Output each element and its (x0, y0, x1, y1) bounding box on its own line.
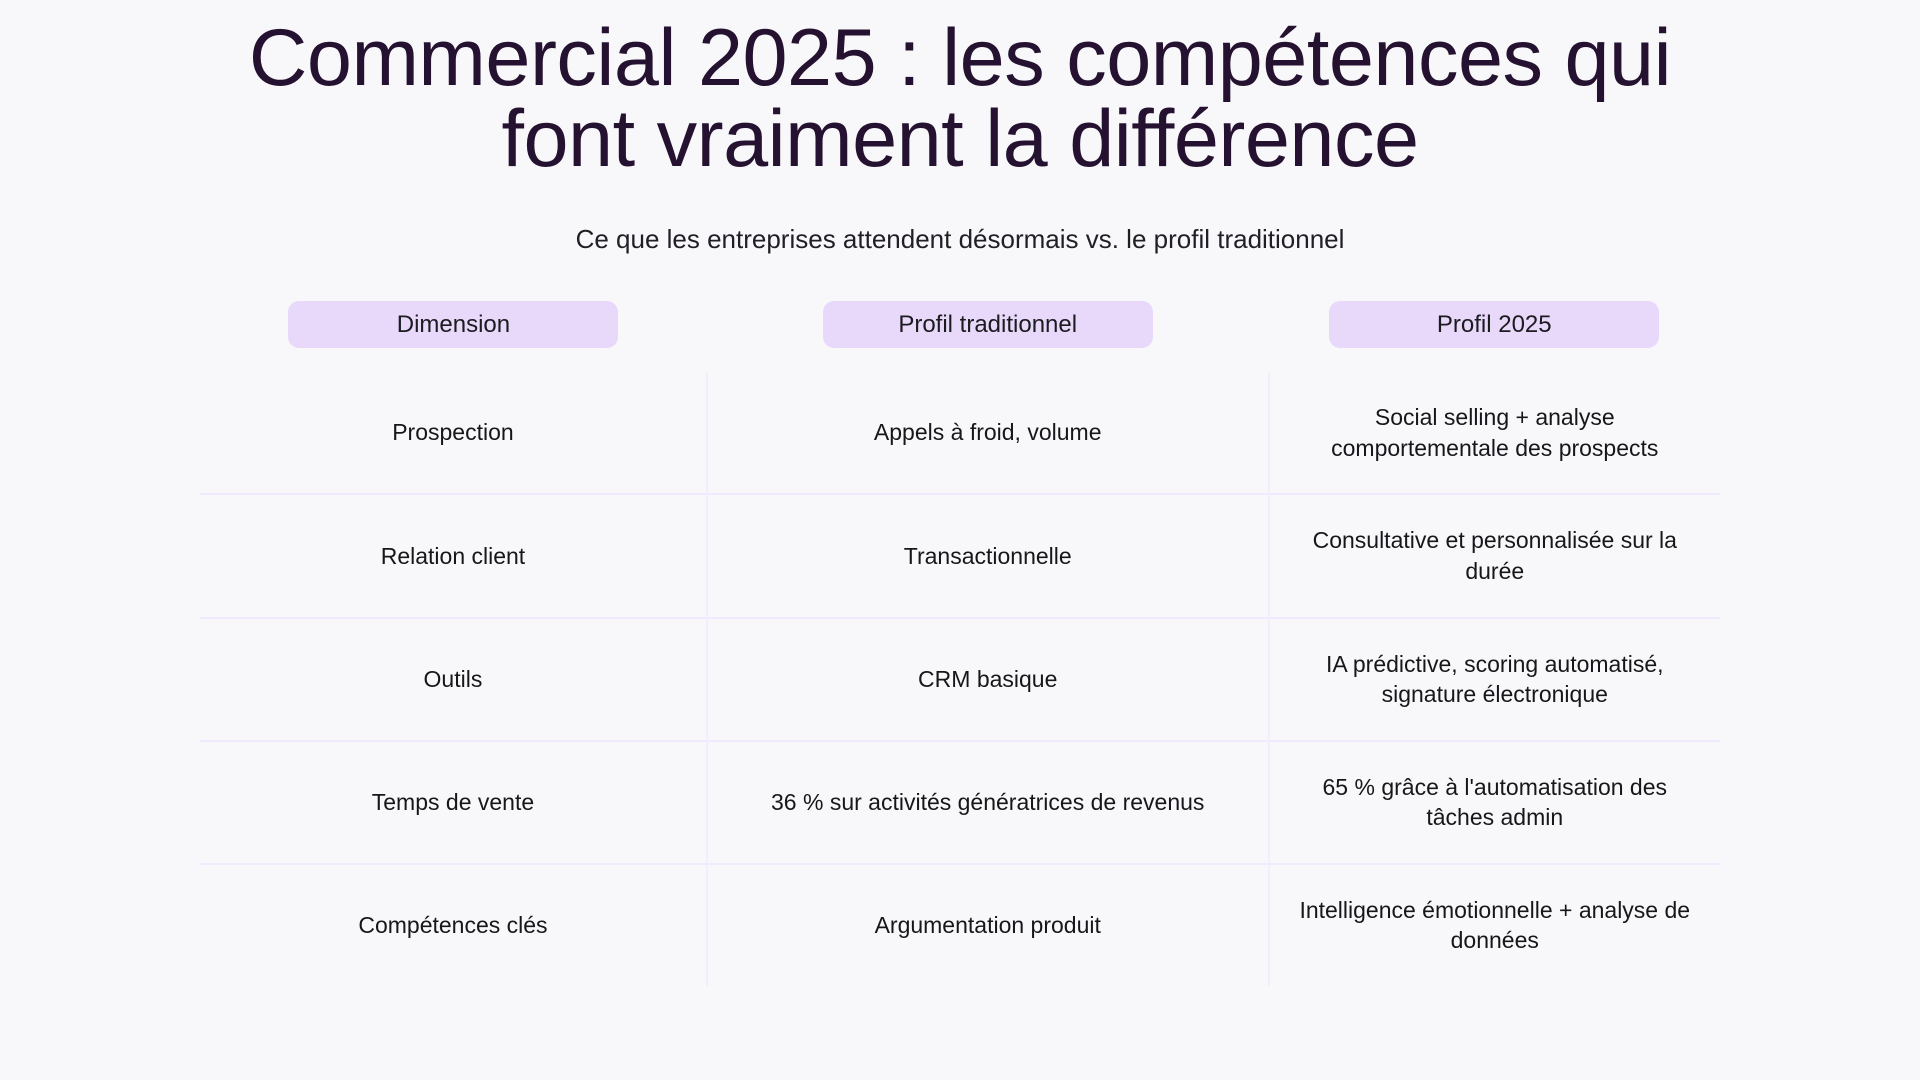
pill-holder-traditionnel: Profil traditionnel (707, 301, 1269, 348)
cell-text: CRM basique (734, 664, 1242, 695)
cell-text: IA prédictive, scoring automatisé, signa… (1296, 649, 1694, 710)
page-header: Commercial 2025 : les compétences qui fo… (0, 0, 1920, 255)
table-header-row: Dimension Profil traditionnel Profil 202… (200, 301, 1720, 372)
table-row: Temps de vente 36 % sur activités généra… (200, 741, 1720, 864)
cell-dimension: Temps de vente (200, 741, 707, 864)
cell-traditionnel: Argumentation produit (707, 864, 1269, 986)
cell-dimension: Prospection (200, 372, 707, 494)
column-header-traditionnel: Profil traditionnel (707, 301, 1269, 372)
cell-text: Transactionnelle (734, 541, 1242, 572)
cell-text: Temps de vente (226, 787, 680, 818)
cell-traditionnel: CRM basique (707, 618, 1269, 741)
cell-text: Outils (226, 664, 680, 695)
cell-text: 65 % grâce à l'automatisation des tâches… (1296, 772, 1694, 833)
cell-traditionnel: Appels à froid, volume (707, 372, 1269, 494)
cell-text: Compétences clés (226, 910, 680, 941)
comparison-table: Dimension Profil traditionnel Profil 202… (200, 301, 1720, 986)
cell-dimension: Relation client (200, 494, 707, 617)
cell-traditionnel: 36 % sur activités génératrices de reven… (707, 741, 1269, 864)
cell-profil-2025: Consultative et personnalisée sur la dur… (1269, 494, 1720, 617)
column-header-pill-profil-2025: Profil 2025 (1329, 301, 1659, 348)
page-root: Commercial 2025 : les compétences qui fo… (0, 0, 1920, 1080)
table-row: Compétences clés Argumentation produit I… (200, 864, 1720, 986)
cell-profil-2025: Intelligence émotionnelle + analyse de d… (1269, 864, 1720, 986)
cell-profil-2025: Social selling + analyse comportementale… (1269, 372, 1720, 494)
table-row: Outils CRM basique IA prédictive, scorin… (200, 618, 1720, 741)
cell-text: Prospection (226, 417, 680, 448)
cell-dimension: Compétences clés (200, 864, 707, 986)
cell-dimension: Outils (200, 618, 707, 741)
column-header-dimension: Dimension (200, 301, 707, 372)
cell-text: Consultative et personnalisée sur la dur… (1296, 525, 1694, 586)
column-header-profil-2025: Profil 2025 (1269, 301, 1720, 372)
table-row: Prospection Appels à froid, volume Socia… (200, 372, 1720, 494)
cell-text: Intelligence émotionnelle + analyse de d… (1296, 895, 1694, 956)
cell-text: 36 % sur activités génératrices de reven… (734, 787, 1242, 818)
table-row: Relation client Transactionnelle Consult… (200, 494, 1720, 617)
page-subtitle: Ce que les entreprises attendent désorma… (0, 224, 1920, 255)
cell-traditionnel: Transactionnelle (707, 494, 1269, 617)
column-header-pill-traditionnel: Profil traditionnel (823, 301, 1153, 348)
cell-profil-2025: 65 % grâce à l'automatisation des tâches… (1269, 741, 1720, 864)
cell-profil-2025: IA prédictive, scoring automatisé, signa… (1269, 618, 1720, 741)
cell-text: Appels à froid, volume (734, 417, 1242, 448)
pill-holder-dimension: Dimension (200, 301, 707, 348)
comparison-table-wrapper: Dimension Profil traditionnel Profil 202… (200, 301, 1720, 986)
cell-text: Social selling + analyse comportementale… (1296, 402, 1694, 463)
table-body: Prospection Appels à froid, volume Socia… (200, 372, 1720, 986)
cell-text: Relation client (226, 541, 680, 572)
page-title: Commercial 2025 : les compétences qui fo… (55, 18, 1865, 180)
cell-text: Argumentation produit (734, 910, 1242, 941)
table-header-row-group: Dimension Profil traditionnel Profil 202… (200, 301, 1720, 372)
column-header-pill-dimension: Dimension (288, 301, 618, 348)
pill-holder-profil-2025: Profil 2025 (1269, 301, 1720, 348)
